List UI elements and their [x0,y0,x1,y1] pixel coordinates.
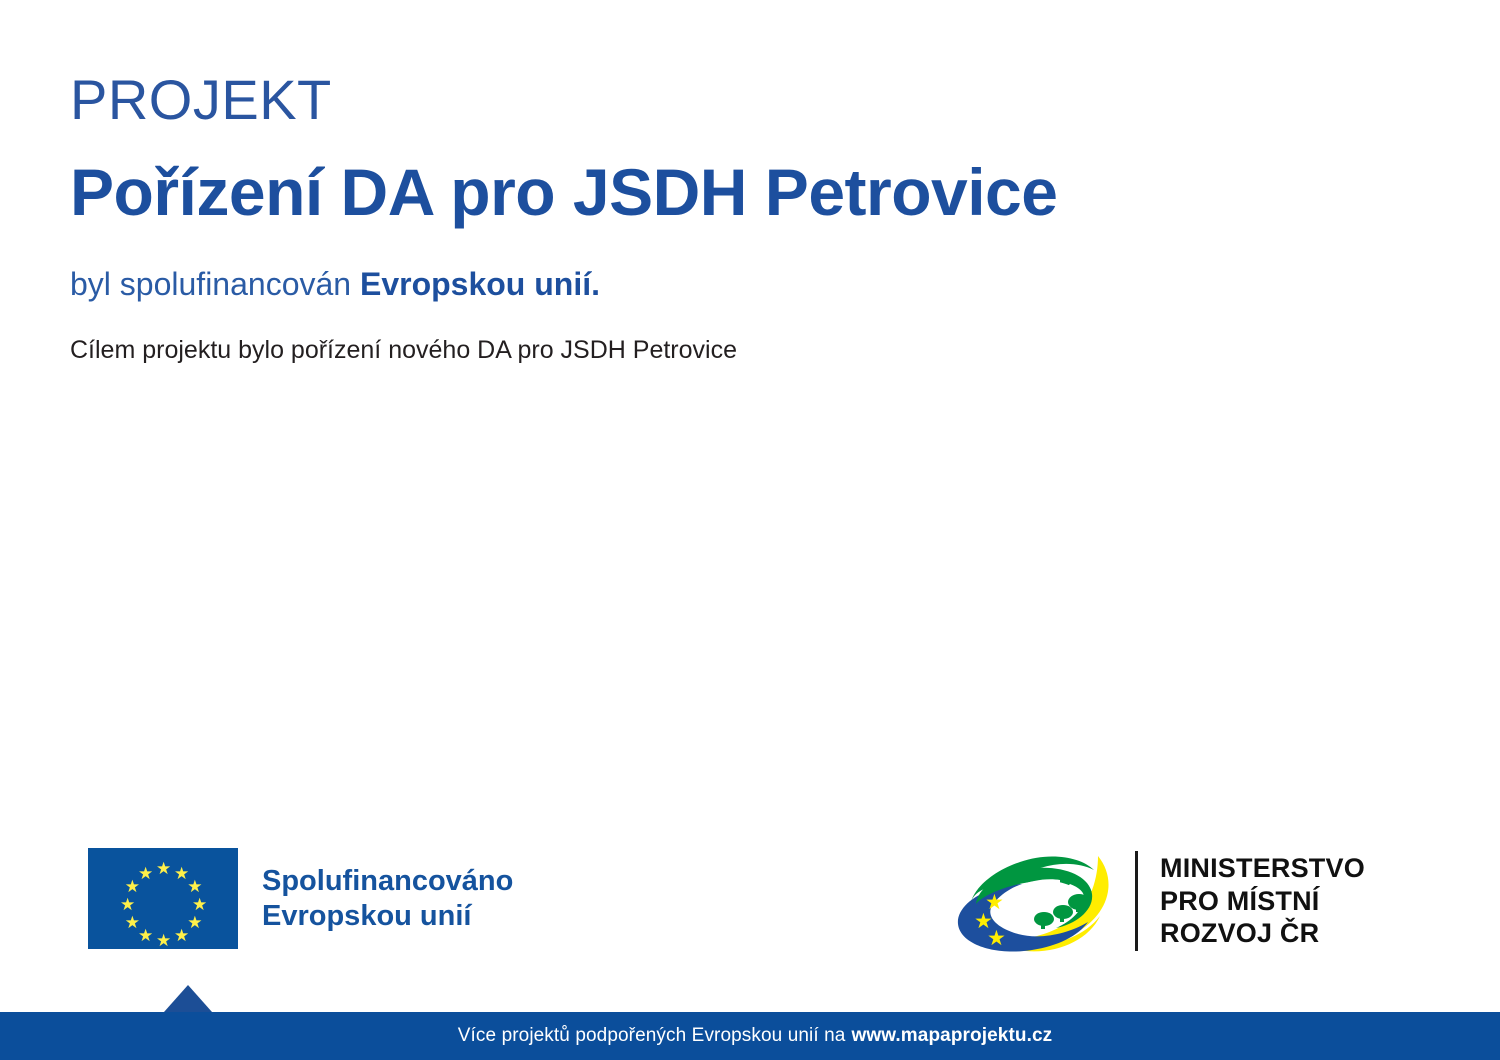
headline-block: PROJEKT Pořízení DA pro JSDH Petrovice b… [70,70,1410,367]
eu-logo-line-1: Spolufinancováno [262,864,513,898]
eu-star-icon: ★ [138,929,152,943]
eu-star-icon: ★ [174,929,188,943]
mmr-tree-trunk [1060,916,1064,922]
eyebrow-label: PROJEKT [70,70,1410,130]
eu-flag-icon: ★ ★ ★ ★ ★ ★ ★ ★ ★ ★ ★ ★ [88,848,238,949]
eu-star-icon: ★ [187,916,201,930]
footer-url-link[interactable]: www.mapaprojektu.cz [851,1025,1052,1047]
ministry-line-2: PRO MÍSTNÍ [1160,885,1365,918]
project-goal-text: Cílem projektu bylo pořízení nového DA p… [70,335,1410,366]
ministry-logo-text: MINISTERSTVO PRO MÍSTNÍ ROZVOJ ČR [1160,852,1365,951]
eu-star-icon: ★ [120,898,134,912]
footer-text: Více projektů podpořených Evropskou unií… [0,1012,1500,1060]
eu-star-icon: ★ [192,898,206,912]
eu-star-icon: ★ [156,862,170,876]
mmr-emblem-icon: ★ ★ ★ [948,846,1123,956]
ministry-logo: ★ ★ ★ MINISTERSTVO PRO MÍSTNÍ ROZVOJ ČR [948,846,1365,956]
footer-text-prefix: Více projektů podpořených Evropskou unií… [458,1025,846,1047]
ministry-logo-divider [1135,851,1138,951]
eu-stars-circle: ★ ★ ★ ★ ★ ★ ★ ★ ★ ★ ★ ★ [88,848,238,949]
eu-star-icon: ★ [187,880,201,894]
eu-star-icon: ★ [138,867,152,881]
eu-star-icon: ★ [125,880,139,894]
eu-logo-line-2: Evropskou unií [262,899,513,933]
mmr-tree-trunk [1076,906,1080,912]
cofinancing-emphasis: Evropskou unií. [360,266,600,302]
eu-star-icon: ★ [156,934,170,948]
mmr-star-icon: ★ [987,927,1006,950]
footer-bar: Více projektů podpořených Evropskou unií… [0,1012,1500,1060]
eu-star-icon: ★ [174,867,188,881]
cofinancing-statement: byl spolufinancován Evropskou unií. [70,265,1410,303]
project-poster: PROJEKT Pořízení DA pro JSDH Petrovice b… [0,0,1500,1060]
footer-notch-arrow [164,985,212,1012]
eu-star-icon: ★ [125,916,139,930]
cofinancing-prefix: byl spolufinancován [70,266,360,302]
eu-cofunding-logo: ★ ★ ★ ★ ★ ★ ★ ★ ★ ★ ★ ★ Spolufinancováno… [88,848,513,949]
eu-logo-text: Spolufinancováno Evropskou unií [262,864,513,932]
page-title: Pořízení DA pro JSDH Petrovice [70,156,1410,229]
logo-strip: ★ ★ ★ ★ ★ ★ ★ ★ ★ ★ ★ ★ Spolufinancováno… [0,840,1500,965]
ministry-line-3: ROZVOJ ČR [1160,917,1365,950]
ministry-line-1: MINISTERSTVO [1160,852,1365,885]
mmr-tree-trunk [1041,923,1045,929]
